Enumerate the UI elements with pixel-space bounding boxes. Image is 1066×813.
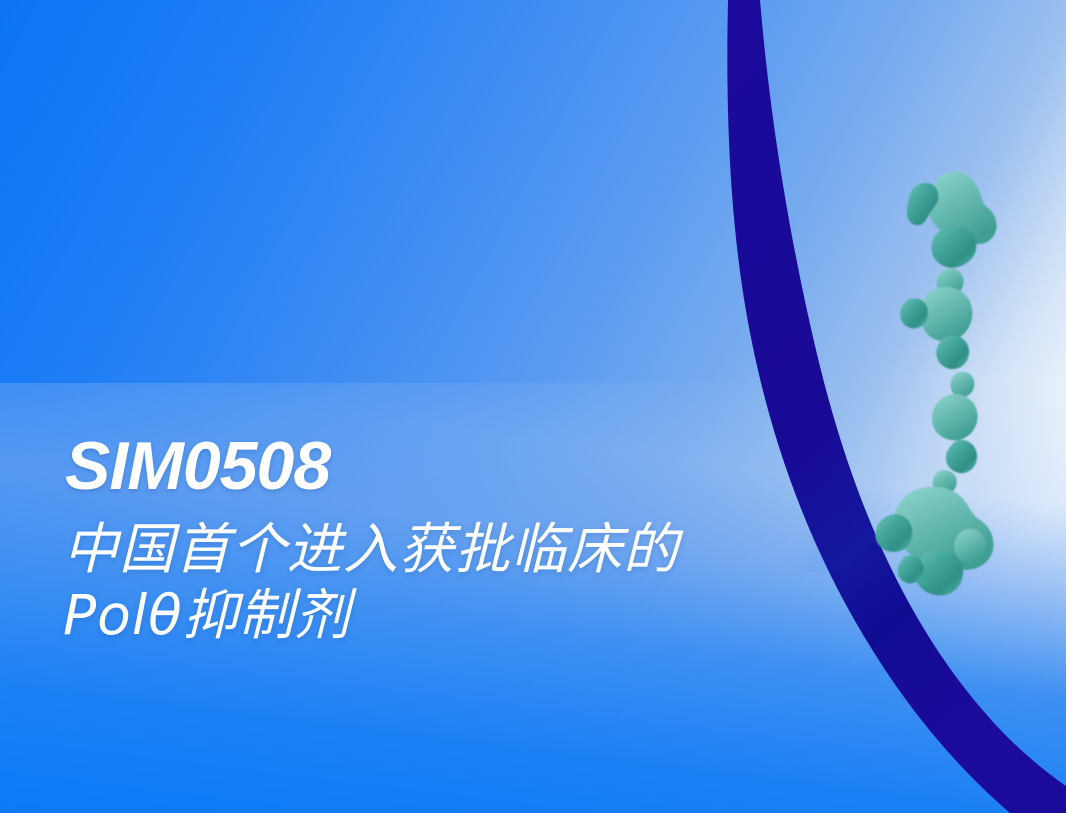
tagline-line-2: Polθ抑制剂 [63, 582, 863, 648]
tagline-line-1: 中国首个进入获批临床的 [63, 516, 863, 582]
poster-canvas: SIM0508 中国首个进入获批临床的 Polθ抑制剂 [0, 0, 1066, 813]
headline-block: SIM0508 中国首个进入获批临床的 Polθ抑制剂 [63, 432, 863, 648]
tagline: 中国首个进入获批临床的 Polθ抑制剂 [63, 516, 863, 648]
page-title: SIM0508 [65, 432, 863, 500]
